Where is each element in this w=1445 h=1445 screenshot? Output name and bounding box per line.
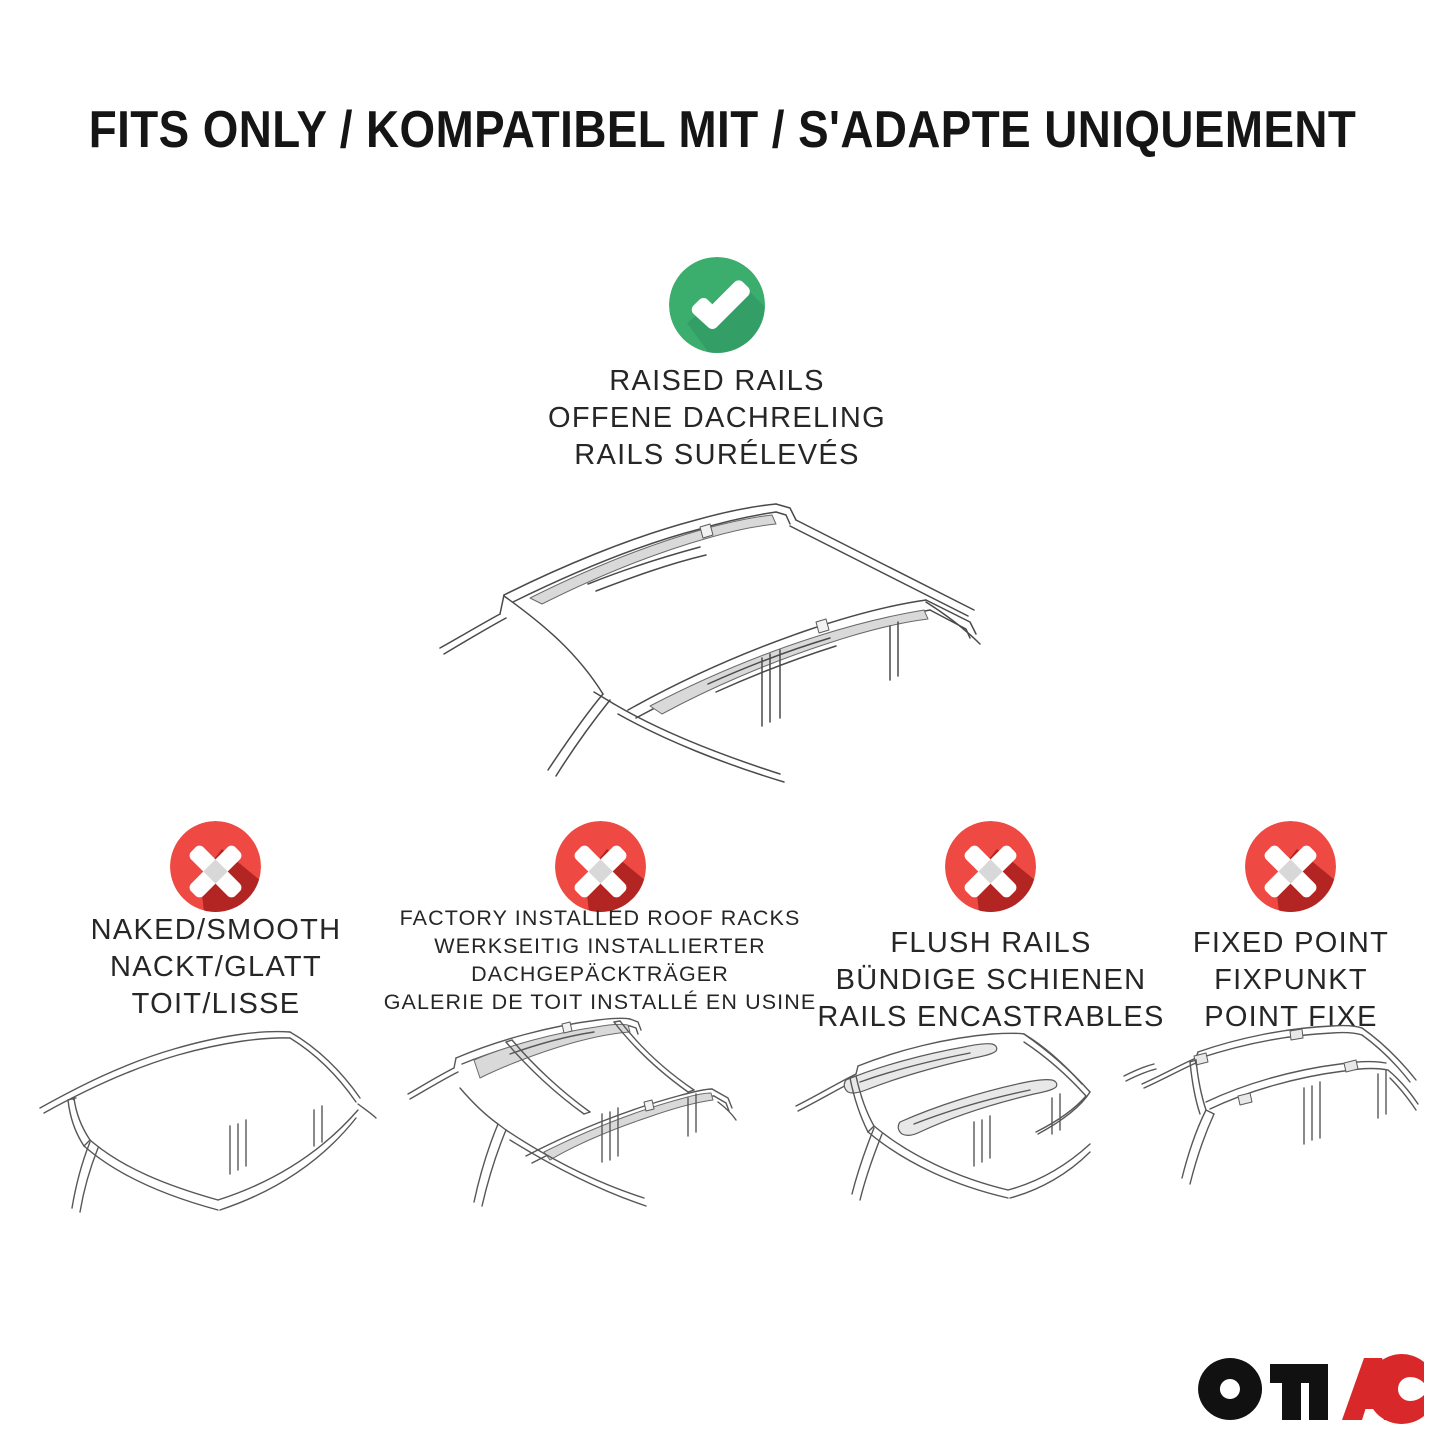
x-glyph: [555, 821, 646, 912]
red-x-circle-icon-flush-rails: [945, 821, 1036, 912]
car-roof-flush-rails-illustration: [788, 1018, 1158, 1254]
compatible-label-line-2: OFFENE DACHRELING: [422, 400, 1012, 437]
red-x-circle-icon-naked-smooth: [170, 821, 261, 912]
compatible-label-block: RAISED RAILS OFFENE DACHRELING RAILS SUR…: [422, 363, 1012, 474]
green-check-circle-icon: [669, 257, 765, 353]
compatible-label-line-1: RAISED RAILS: [422, 363, 1012, 400]
x-glyph: [945, 821, 1036, 912]
label-line-factory-racks-1: FACTORY INSTALLED ROOF RACKS: [370, 905, 830, 933]
label-line-naked-smooth-1: NAKED/SMOOTH: [30, 912, 402, 949]
car-roof-raised-rails-illustration: [418, 498, 1018, 798]
car-roof-factory-racks-illustration: [398, 1002, 768, 1252]
car-roof-naked-smooth-illustration: [18, 1018, 384, 1254]
label-block-naked-smooth: NAKED/SMOOTH NACKT/GLATT TOIT/LISSE: [30, 912, 402, 1023]
check-glyph: [669, 257, 765, 353]
infographic-page: FITS ONLY / KOMPATIBEL MIT / S'ADAPTE UN…: [0, 0, 1445, 1445]
car-roof-fixed-point-illustration: [1138, 1018, 1438, 1254]
page-title: FITS ONLY / KOMPATIBEL MIT / S'ADAPTE UN…: [87, 100, 1359, 160]
label-block-factory-racks: FACTORY INSTALLED ROOF RACKS WERKSEITIG …: [370, 905, 830, 1017]
label-line-naked-smooth-2: NACKT/GLATT: [30, 949, 402, 986]
label-line-factory-racks-2: WERKSEITIG INSTALLIERTER: [370, 933, 830, 961]
compatible-label-line-3: RAILS SURÉLEVÉS: [422, 437, 1012, 474]
red-x-circle-icon-fixed-point: [1245, 821, 1336, 912]
x-glyph: [1245, 821, 1336, 912]
label-line-factory-racks-3: DACHGEPÄCKTRÄGER: [370, 961, 830, 989]
label-line-fixed-point-1: FIXED POINT: [1105, 925, 1445, 962]
x-glyph: [170, 821, 261, 912]
omac-logo: [1192, 1352, 1424, 1426]
label-line-fixed-point-2: FIXPUNKT: [1105, 962, 1445, 999]
omac-logo-mark: [1192, 1352, 1424, 1426]
red-x-circle-icon-factory-racks: [555, 821, 646, 912]
